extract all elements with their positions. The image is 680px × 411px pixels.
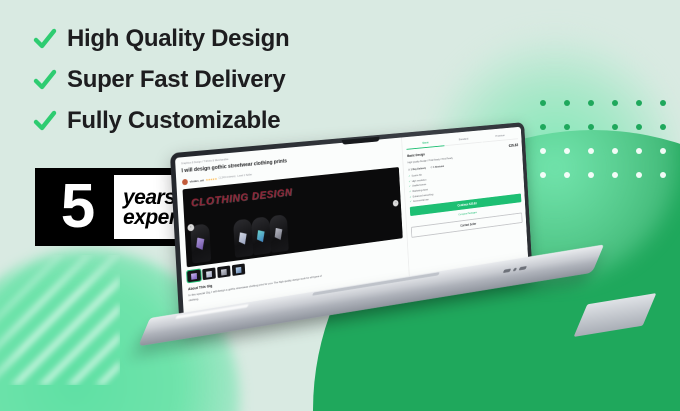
list-item: Super Fast Delivery (32, 67, 289, 93)
list-item[interactable] (217, 265, 231, 278)
list-item[interactable] (187, 269, 201, 282)
dot (612, 100, 618, 106)
list-item: Fully Customizable (32, 108, 289, 134)
usb-port-icon (503, 269, 511, 273)
seller-level: Level 2 Seller (237, 174, 252, 178)
bullet-label: High Quality Design (67, 27, 289, 51)
check-icon: ✓ (409, 184, 411, 188)
thumbnail-art (206, 271, 212, 278)
thumbnail-art (191, 273, 197, 280)
usb-port-icon (519, 266, 527, 270)
thumbnail-art (221, 269, 227, 276)
revision-count: ⟳ 1 Revision (431, 164, 445, 169)
diagonal-stripes-decor (0, 255, 120, 385)
check-icon: ✓ (408, 174, 410, 178)
gallery-headline: CLOTHING DESIGN (191, 186, 293, 209)
hoodie-print-art (196, 237, 205, 251)
check-icon: ✓ (409, 195, 411, 199)
dot (564, 124, 570, 130)
avatar[interactable] (182, 179, 188, 186)
revisions-label: 1 Revision (433, 164, 444, 169)
tab-standard[interactable]: Standard (445, 134, 482, 146)
laptop-base-right-edge (574, 293, 657, 337)
hoodie-print-art (238, 232, 247, 246)
dot (612, 124, 618, 130)
hoodie-print-art (274, 227, 283, 241)
hoodie-print-art (256, 229, 265, 243)
delivery-time: ◷ 1 Day Delivery (408, 166, 426, 172)
dot (564, 100, 570, 106)
dot (636, 100, 642, 106)
hoodie-mockup (251, 216, 271, 255)
review-count: (1,243 reviews) (219, 175, 236, 180)
list-item[interactable] (202, 267, 216, 280)
dot (540, 100, 546, 106)
gallery-next-icon[interactable]: › (393, 199, 399, 206)
dot (660, 172, 666, 178)
hoodie-mockup (233, 218, 253, 257)
badge-number: 5 (42, 175, 114, 239)
delivery-label: 1 Day Delivery (410, 166, 426, 171)
thumbnail-art (236, 267, 242, 274)
bullet-label: Super Fast Delivery (67, 68, 285, 92)
seller-name[interactable]: vlndes_art (190, 178, 204, 183)
dot (540, 124, 546, 130)
feature-label: Commercial use (413, 198, 429, 203)
dot (636, 124, 642, 130)
banner-canvas: High Quality Design Super Fast Delivery … (0, 0, 680, 411)
laptop-mockup: Graphics & Design / T-Shirts & Merchandi… (150, 150, 650, 380)
dot (660, 100, 666, 106)
tab-basic[interactable]: Basic (406, 137, 444, 149)
rating-stars-icon: ★★★★★ (206, 177, 217, 182)
check-icon (32, 67, 58, 93)
check-icon (32, 108, 58, 134)
list-item[interactable] (232, 263, 245, 276)
list-item: High Quality Design (32, 26, 289, 52)
port-group (503, 266, 527, 273)
feature-bullet-list: High Quality Design Super Fast Delivery … (32, 26, 289, 149)
check-icon (32, 26, 58, 52)
audio-port-icon (513, 268, 517, 272)
dot (660, 124, 666, 130)
check-icon: ✓ (409, 189, 411, 193)
dot (588, 100, 594, 106)
check-icon: ✓ (410, 200, 412, 204)
package-name: Basic Design (407, 152, 425, 157)
tab-premium[interactable]: Premium (482, 131, 518, 143)
bullet-label: Fully Customizable (67, 109, 280, 133)
dot (660, 148, 666, 154)
dot (588, 124, 594, 130)
check-icon: ✓ (409, 179, 411, 183)
feature-label: Source file (411, 173, 422, 178)
package-price: €25.63 (508, 142, 518, 147)
hoodie-mockup (269, 214, 289, 253)
